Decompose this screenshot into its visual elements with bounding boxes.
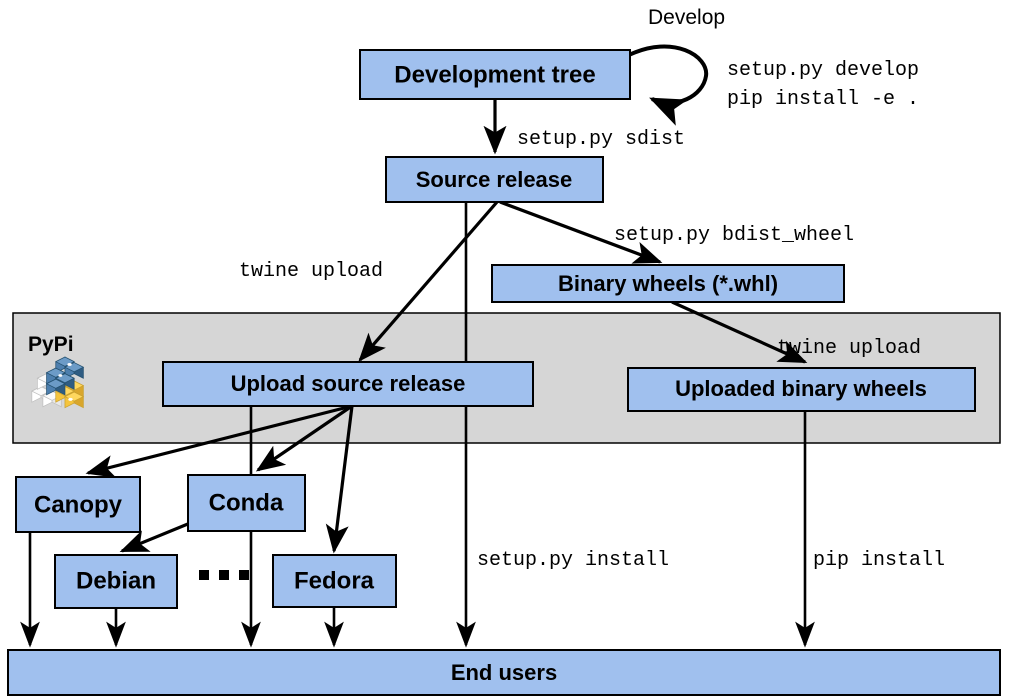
edge-label-setup-sdist: setup.py sdist [517,128,685,151]
edge-label-twine-upload-source: twine upload [239,260,383,283]
node-uploaded-binary-wheels-label: Uploaded binary wheels [675,376,927,401]
edge-label-pip-install-editable: pip install -e . [727,88,919,111]
edge-label-setup-develop: setup.py develop [727,59,919,82]
node-conda-label: Conda [209,489,284,516]
node-source-release-label: Source release [416,167,573,192]
node-binary-wheels-label: Binary wheels (*.whl) [558,271,778,296]
edge-label-pip-install: pip install [813,549,945,572]
edge-label-setup-install: setup.py install [477,549,669,572]
node-canopy-label: Canopy [34,491,123,518]
node-upload-source-release-label: Upload source release [231,371,466,396]
edge-label-setup-bdist-wheel: setup.py bdist_wheel [614,224,854,247]
diagram-canvas: Development tree Source release Binary w… [0,0,1009,698]
edge-label-twine-upload-wheels: twine upload [777,337,921,360]
edge-develop-loop [629,46,706,102]
node-development-tree-label: Development tree [394,61,595,88]
pypi-group-label: PyPi [28,333,74,356]
edge-label-develop: Develop [648,6,725,29]
node-debian-label: Debian [76,567,156,594]
other-distros-ellipsis [199,570,249,580]
packaging-flow-diagram: Development tree Source release Binary w… [0,0,1009,698]
node-fedora-label: Fedora [294,567,375,594]
node-end-users-label: End users [451,660,557,685]
